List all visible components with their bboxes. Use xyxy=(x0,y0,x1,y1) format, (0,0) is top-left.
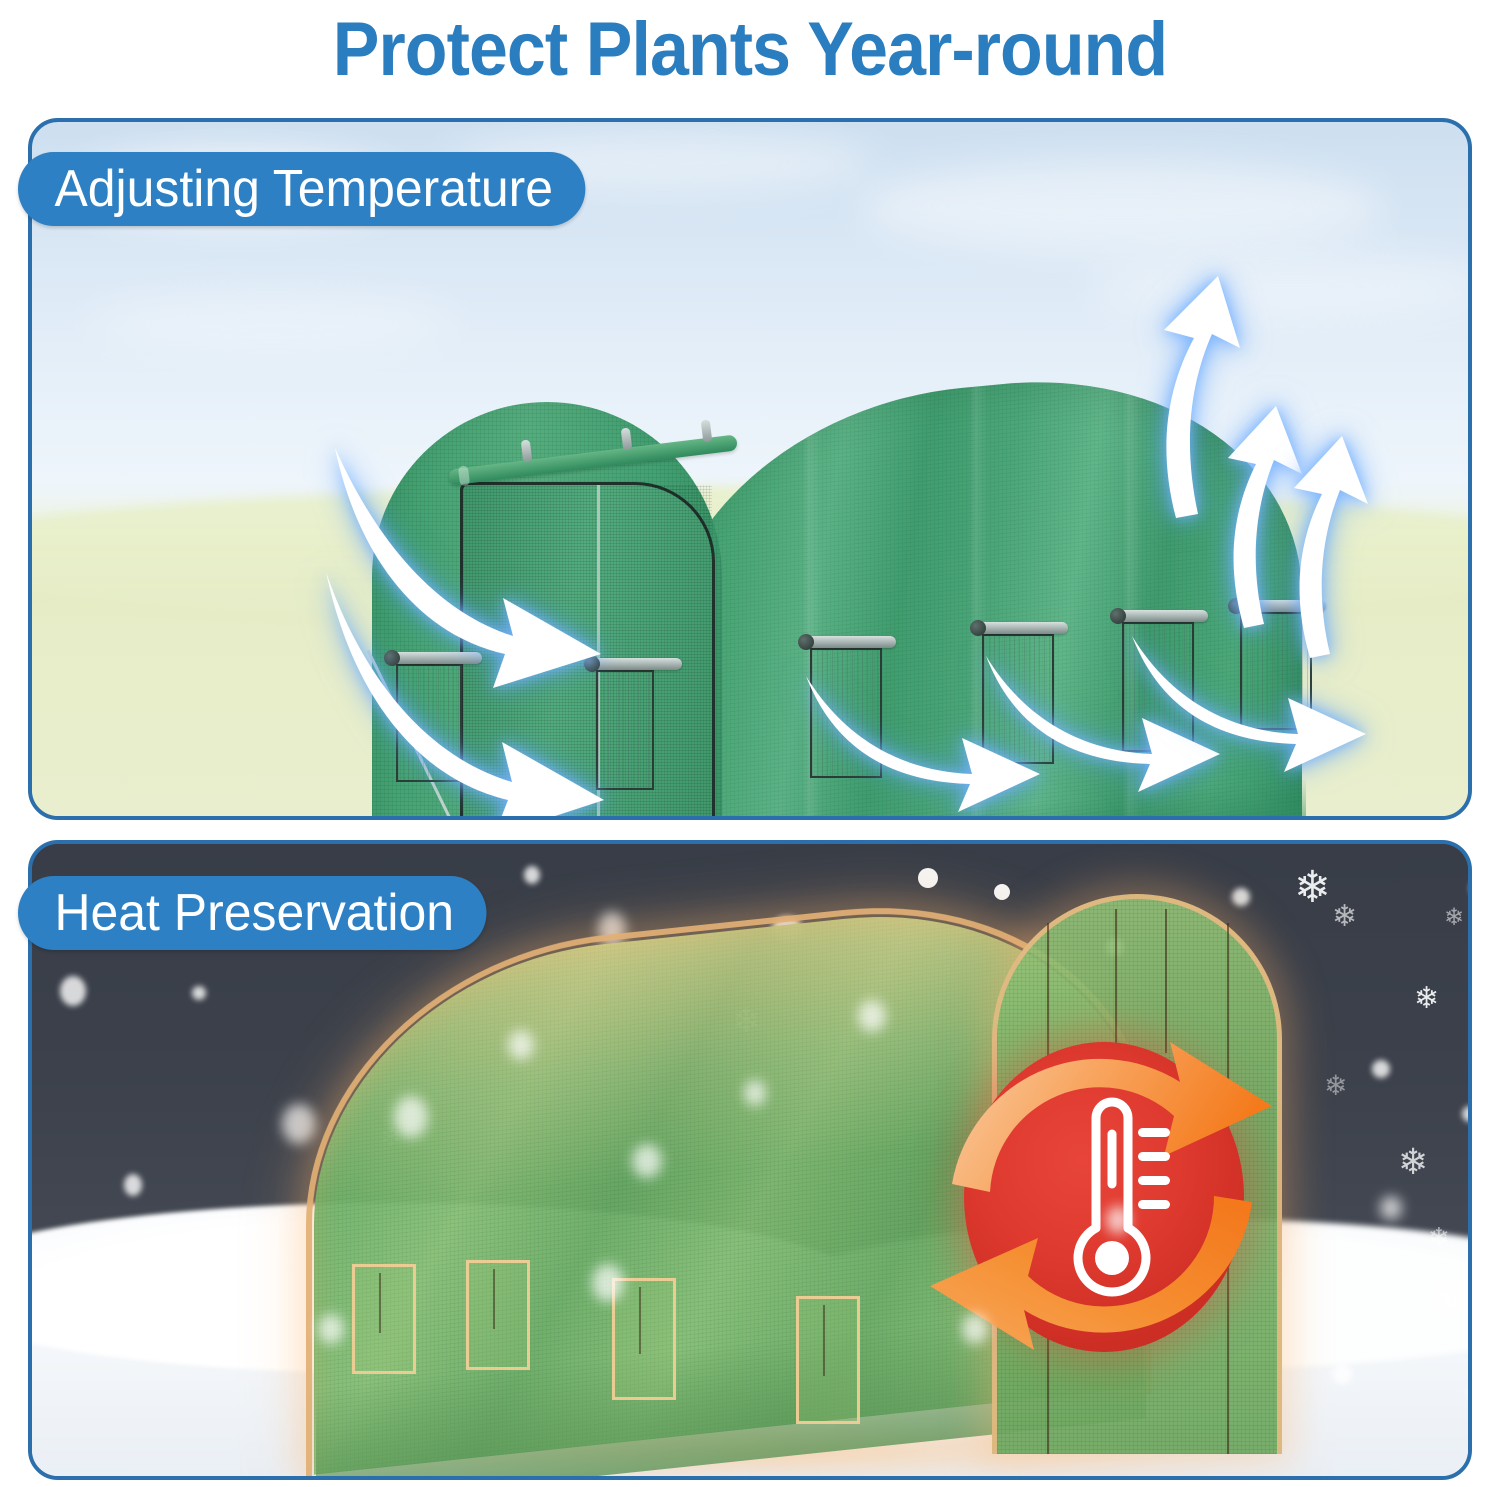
vent-window xyxy=(1240,612,1312,730)
snowflake-icon: ❄ xyxy=(212,1314,234,1340)
end-wall-zipper xyxy=(1115,909,1117,1053)
snow-dot xyxy=(962,1314,988,1344)
vent-window xyxy=(810,648,882,778)
vent-knob xyxy=(584,656,600,672)
roll-bar-clip xyxy=(701,420,713,443)
vent-window-front-right xyxy=(596,670,654,790)
snow-dot xyxy=(1470,880,1472,896)
vent-window xyxy=(466,1260,530,1370)
snow-dot xyxy=(744,1080,766,1106)
snow-dot xyxy=(858,1000,886,1032)
snow-dot xyxy=(1372,1060,1390,1078)
snow-dot xyxy=(394,1096,428,1138)
snowflake-icon: ❄ xyxy=(1444,906,1464,930)
vent-knob xyxy=(798,634,814,650)
vent-roll-bar xyxy=(976,622,1068,634)
snow-dot xyxy=(68,1274,98,1308)
vent-knob xyxy=(1228,598,1244,614)
greenhouse-tunnel-summer xyxy=(332,372,1322,820)
vent-window xyxy=(1122,622,1194,752)
badge-adjusting-temperature: Adjusting Temperature xyxy=(18,152,586,226)
greenhouse-front-gable xyxy=(372,402,722,820)
snow-dot xyxy=(60,976,86,1006)
vent-roll-bar xyxy=(804,636,896,648)
vent-roll-bar xyxy=(1116,610,1208,622)
vent-knob xyxy=(384,650,400,666)
vent-window xyxy=(796,1296,860,1424)
vent-window xyxy=(352,1264,416,1374)
snow-dot xyxy=(1468,1384,1472,1402)
snowflake-icon: ❄ xyxy=(1398,1144,1428,1180)
summer-scene xyxy=(32,122,1468,816)
snow-dot xyxy=(124,1174,142,1196)
badge-heat-preservation: Heat Preservation xyxy=(18,876,487,950)
snow-dot xyxy=(632,1144,662,1178)
page-title: Protect Plants Year-round xyxy=(60,0,1440,98)
vent-window-front-left xyxy=(396,664,462,782)
snow-dot xyxy=(1380,1196,1402,1220)
end-wall-zipper xyxy=(1165,909,1167,1053)
snow-dot xyxy=(1432,1284,1462,1316)
snow-dot xyxy=(220,1224,242,1248)
cloud xyxy=(1092,252,1472,322)
snow-dot xyxy=(192,986,206,1000)
snow-dot xyxy=(592,1264,624,1302)
cloud xyxy=(862,162,1382,252)
snow-dot xyxy=(318,1314,344,1344)
greenhouse-door xyxy=(460,482,715,820)
vent-window xyxy=(982,634,1054,764)
cloud xyxy=(92,292,452,352)
snowflake-icon: ❄ xyxy=(1414,984,1439,1014)
vent-knob xyxy=(1110,608,1126,624)
vent-roll-bar xyxy=(590,658,682,670)
vent-window xyxy=(612,1278,676,1400)
snow-dot xyxy=(1106,1206,1130,1234)
thermometer-icon xyxy=(1040,1080,1176,1310)
snow-dot xyxy=(508,1030,534,1060)
door-mesh-texture xyxy=(463,485,712,820)
vent-roll-bar xyxy=(1234,600,1326,612)
snow-dot xyxy=(1462,1106,1472,1122)
snowflake-icon: ❄ xyxy=(1428,1224,1450,1250)
vent-roll-bar xyxy=(390,652,482,664)
vent-knob xyxy=(970,620,986,636)
